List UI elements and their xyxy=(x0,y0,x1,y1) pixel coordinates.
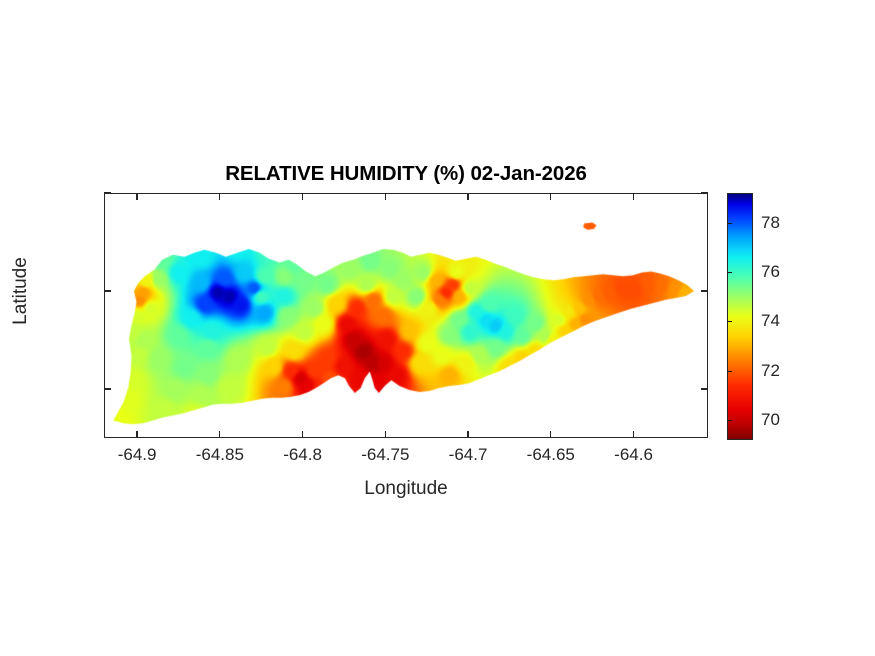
colorbar-gradient xyxy=(728,194,752,439)
x-tick-mark xyxy=(302,431,303,438)
y-tick-mark xyxy=(104,192,111,193)
colorbar-tick-mark xyxy=(727,223,732,224)
x-tick-label: -64.75 xyxy=(361,445,409,465)
colorbar-tick-mark xyxy=(727,272,732,273)
x-tick-label: -64.6 xyxy=(614,445,653,465)
y-tick-mark xyxy=(104,388,111,389)
x-axis-label: Longitude xyxy=(104,478,708,500)
x-tick-label: -64.8 xyxy=(283,445,322,465)
colorbar-tick-label: 72 xyxy=(761,361,780,381)
colorbar-tick-label: 76 xyxy=(761,262,780,282)
x-tick-mark xyxy=(136,431,137,438)
y-axis-label: Latitude xyxy=(10,241,32,341)
x-tick-mark xyxy=(633,193,634,200)
colorbar-tick-mark xyxy=(727,371,732,372)
x-tick-mark xyxy=(385,431,386,438)
figure-canvas: RELATIVE HUMIDITY (%) 02-Jan-2026 -64.9-… xyxy=(0,0,875,656)
x-tick-mark xyxy=(219,193,220,200)
x-tick-mark xyxy=(385,193,386,200)
map-plot-area[interactable] xyxy=(104,193,708,438)
y-tick-mark xyxy=(104,290,111,291)
colorbar-tick-label: 78 xyxy=(761,213,780,233)
x-tick-mark xyxy=(136,193,137,200)
colorbar-tick-mark xyxy=(727,321,732,322)
x-tick-mark xyxy=(550,193,551,200)
x-tick-mark xyxy=(219,431,220,438)
x-tick-mark xyxy=(302,193,303,200)
colorbar-tick-label: 70 xyxy=(761,410,780,430)
humidity-heatmap xyxy=(105,194,708,438)
x-tick-mark xyxy=(550,431,551,438)
y-tick-mark xyxy=(701,290,708,291)
y-tick-mark xyxy=(701,388,708,389)
x-tick-label: -64.9 xyxy=(118,445,157,465)
colorbar[interactable] xyxy=(727,193,753,440)
page-title: RELATIVE HUMIDITY (%) 02-Jan-2026 xyxy=(104,162,708,186)
x-tick-label: -64.65 xyxy=(527,445,575,465)
x-tick-mark xyxy=(467,193,468,200)
x-tick-label: -64.85 xyxy=(196,445,244,465)
x-tick-mark xyxy=(633,431,634,438)
colorbar-tick-label: 74 xyxy=(761,311,780,331)
x-tick-label: -64.7 xyxy=(449,445,488,465)
y-tick-mark xyxy=(701,192,708,193)
colorbar-tick-mark xyxy=(727,420,732,421)
x-tick-mark xyxy=(467,431,468,438)
